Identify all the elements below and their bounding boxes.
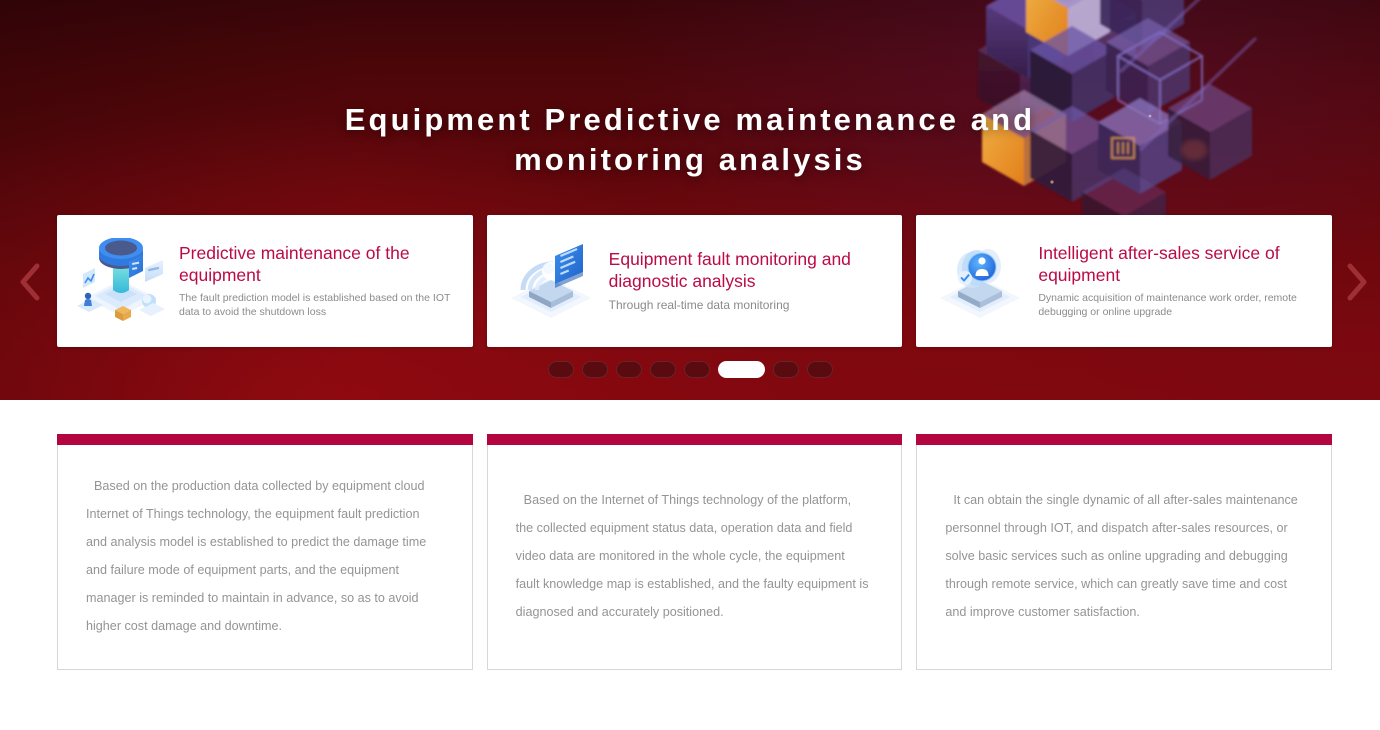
isometric-user-service-icon — [928, 235, 1032, 327]
isometric-data-funnel-icon — [69, 235, 173, 327]
description-panel-list: Based on the production data collected b… — [57, 434, 1332, 670]
feature-card-body: Equipment fault monitoring and diagnosti… — [603, 249, 889, 313]
panel-accent-bar — [487, 434, 903, 445]
feature-card-fault-monitoring[interactable]: Equipment fault monitoring and diagnosti… — [487, 215, 903, 347]
feature-card-subtitle: The fault prediction model is establishe… — [179, 291, 455, 319]
description-panel-fault-monitoring: Based on the Internet of Things technolo… — [487, 434, 903, 670]
carousel-pagination — [0, 361, 1380, 378]
panel-accent-bar — [916, 434, 1332, 445]
feature-card-title: Equipment fault monitoring and diagnosti… — [609, 249, 885, 293]
panel-accent-bar — [57, 434, 473, 445]
carousel-dot-3[interactable] — [616, 361, 642, 378]
carousel-dot-2[interactable] — [582, 361, 608, 378]
panel-body-text: Based on the Internet of Things technolo… — [488, 445, 902, 669]
feature-card-after-sales-service[interactable]: Intelligent after-sales service of equip… — [916, 215, 1332, 347]
carousel-dot-6-active[interactable] — [718, 361, 765, 378]
carousel-dot-4[interactable] — [650, 361, 676, 378]
hero-banner: Equipment Predictive maintenance and mon… — [0, 0, 1380, 400]
description-panel-predictive-maintenance: Based on the production data collected b… — [57, 434, 473, 670]
page-title-line2: monitoring analysis — [0, 144, 1380, 175]
panel-body-text: It can obtain the single dynamic of all … — [917, 445, 1331, 669]
carousel-dot-8[interactable] — [807, 361, 833, 378]
carousel-dot-7[interactable] — [773, 361, 799, 378]
page-title: Equipment Predictive maintenance and mon… — [0, 104, 1380, 175]
feature-card-predictive-maintenance[interactable]: Predictive maintenance of the equipment … — [57, 215, 473, 347]
feature-card-list: Predictive maintenance of the equipment … — [57, 215, 1332, 347]
feature-card-title: Predictive maintenance of the equipment — [179, 243, 455, 287]
carousel-prev-button[interactable] — [13, 258, 47, 306]
carousel-dot-5[interactable] — [684, 361, 710, 378]
page-title-line1: Equipment Predictive maintenance and — [345, 102, 1035, 137]
carousel-next-button[interactable] — [1340, 258, 1374, 306]
isometric-monitor-radar-icon — [499, 235, 603, 327]
feature-card-body: Intelligent after-sales service of equip… — [1032, 243, 1318, 319]
feature-card-subtitle: Through real-time data monitoring — [609, 297, 885, 313]
panel-body-text: Based on the production data collected b… — [58, 445, 472, 669]
description-panel-after-sales-service: It can obtain the single dynamic of all … — [916, 434, 1332, 670]
feature-card-subtitle: Dynamic acquisition of maintenance work … — [1038, 291, 1314, 319]
chevron-left-icon — [19, 263, 41, 301]
chevron-right-icon — [1346, 263, 1368, 301]
feature-card-body: Predictive maintenance of the equipment … — [173, 243, 459, 319]
carousel-dot-1[interactable] — [548, 361, 574, 378]
feature-card-title: Intelligent after-sales service of equip… — [1038, 243, 1314, 287]
